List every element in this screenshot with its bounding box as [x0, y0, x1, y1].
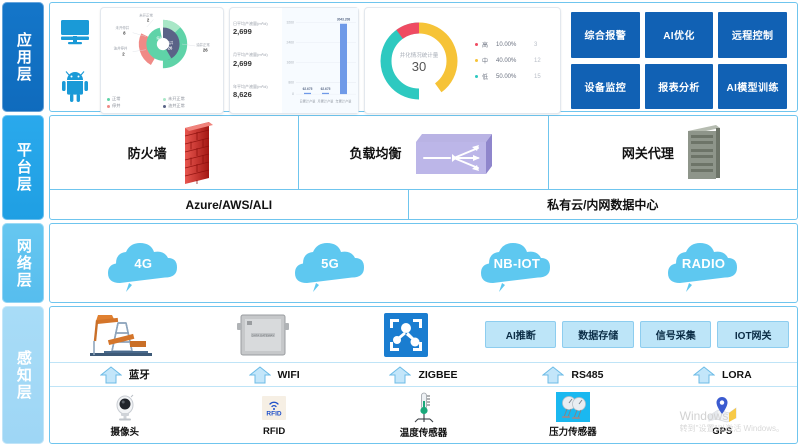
donut-chart-risk-level: 井化情况统计量 30 [373, 15, 465, 107]
perception-layer: 感知层 [2, 306, 798, 444]
load-balancer-icon [410, 128, 498, 178]
application-layer-body: 未开正常 2 未开停井 8 油井停井 2 油井正常 26 停井 10 油井 [49, 2, 798, 112]
dashboard-preview: 未开正常 2 未开停井 8 油井停井 2 油井正常 26 停井 10 油井 [100, 7, 561, 114]
svg-text:1600: 1600 [286, 61, 294, 65]
svg-text:0: 0 [292, 92, 294, 96]
pie-legend: 正常 未开正常 停井 油井正常 [107, 96, 217, 109]
svg-text:2: 2 [122, 51, 125, 56]
legend-item: 高10.00%3 [475, 40, 541, 49]
button-ai-model-training[interactable]: AI模型训练 [718, 64, 787, 110]
button-device-monitoring[interactable]: 设备监控 [571, 64, 640, 110]
protocol-lora: LORA [648, 366, 797, 384]
network-cloud-4g[interactable]: 4G [96, 237, 191, 289]
sensor-label: 压力传感器 [549, 424, 597, 438]
sensor-temperature[interactable]: 温度传感器 [349, 391, 498, 439]
legend-item: 中40.00%12 [475, 56, 541, 65]
svg-text:62.675: 62.675 [321, 87, 331, 91]
svg-text:月累计产量: 月累计产量 [318, 98, 335, 103]
box-ai-inference[interactable]: AI推断 [485, 321, 557, 348]
up-arrow-icon [693, 366, 715, 384]
button-report-analysis[interactable]: 报表分析 [645, 64, 714, 110]
sensor-pressure[interactable]: 压力传感器 [498, 392, 647, 438]
gateway-box-icon: DATA GATEWAY [235, 313, 291, 357]
legend-item: 低50.00%15 [475, 72, 541, 81]
stat-item: 年平均产液量(m³/d) 8,626 [233, 85, 279, 99]
architecture-diagram: 应用层 [0, 0, 800, 444]
stat-item: 日平均产液量(m³/d) 2,699 [233, 22, 279, 36]
monitor-icon [60, 19, 90, 45]
svg-text:2400: 2400 [286, 41, 294, 45]
sensor-rfid[interactable]: RFID RFID [199, 394, 348, 437]
platform-layer-body: 防火墙 [49, 115, 798, 220]
rfid-icon: RFID [259, 394, 289, 424]
svg-text:10: 10 [158, 42, 164, 48]
protocol-label: ZIGBEE [418, 369, 457, 381]
pie-callout-3: 油井正常 [196, 42, 210, 47]
up-arrow-icon [542, 366, 564, 384]
legend-item: 未开正常 [163, 96, 217, 102]
svg-text:油井: 油井 [167, 40, 174, 45]
chart-card-production[interactable]: 日平均产液量(m³/d) 2,699 月平均产液量(m³/d) 2,699 年平… [229, 7, 359, 114]
svg-text:2: 2 [147, 17, 150, 22]
sensor-row: 摄像头 RFID RFID [50, 387, 797, 443]
protocol-zigbee: ZIGBEE [349, 366, 498, 384]
network-layer-body: 4G 5G NB-IOT RADIO [49, 223, 798, 303]
camera-icon [110, 392, 140, 422]
network-layer: 网络层 4G 5G NB-IOT RADIO [2, 223, 798, 303]
svg-text:年累计产量: 年累计产量 [336, 98, 353, 103]
platform-layer: 平台层 防火墙 [2, 115, 798, 220]
stat-item: 月平均产液量(m³/d) 2,699 [233, 53, 279, 67]
perception-layer-body: DATA GATEWAY [49, 306, 798, 444]
box-data-storage[interactable]: 数据存储 [562, 321, 634, 348]
layer-tab-application: 应用层 [2, 2, 44, 112]
sensor-gps[interactable]: GPS [648, 394, 797, 437]
sensor-label: RFID [263, 426, 285, 437]
layer-tab-platform: 平台层 [2, 115, 44, 220]
application-platform-icons [54, 7, 96, 114]
deployment-private-cloud: 私有云/内网数据中心 [409, 190, 797, 219]
field-device-gateway[interactable]: DATA GATEWAY [192, 313, 334, 357]
oil-pumpjack-icon [82, 311, 160, 359]
svg-text:26: 26 [203, 48, 208, 53]
protocol-label: LORA [722, 369, 752, 381]
chart-card-risk-level[interactable]: 井化情况统计量 30 高10.00%3 中40.00%12 低50.00%15 [364, 7, 561, 114]
svg-text:8: 8 [123, 31, 126, 36]
edge-function-boxes: AI推断 数据存储 信号采集 IOT网关 [477, 321, 797, 348]
sensor-label: 摄像头 [110, 424, 139, 438]
donut-chart-well-status: 未开正常 2 未开停井 8 油井停井 2 油井正常 26 停井 10 油井 [101, 8, 225, 82]
protocol-arrow-row: 蓝牙 WIFI ZIGBEE [50, 363, 797, 387]
up-arrow-icon [100, 366, 122, 384]
legend-item: 正常 [107, 96, 161, 102]
svg-text:日累计产量: 日累计产量 [300, 98, 317, 103]
network-cloud-5g[interactable]: 5G [283, 237, 378, 289]
svg-text:62.675: 62.675 [303, 87, 313, 91]
svg-text:26: 26 [168, 46, 173, 51]
load-balancer-label: 负载均衡 [349, 143, 401, 162]
network-cloud-radio[interactable]: RADIO [656, 237, 751, 289]
box-iot-gateway[interactable]: IOT网关 [717, 321, 789, 348]
platform-deployment-bar: Azure/AWS/ALI 私有云/内网数据中心 [50, 189, 797, 219]
gateway-proxy-label: 网关代理 [622, 143, 674, 162]
sensor-camera[interactable]: 摄像头 [50, 392, 199, 438]
ring-center-value: 30 [412, 59, 426, 74]
production-stats: 日平均产液量(m³/d) 2,699 月平均产液量(m³/d) 2,699 年平… [230, 8, 282, 113]
thermometer-icon [409, 391, 439, 423]
platform-item-firewall[interactable]: 防火墙 [50, 116, 298, 189]
svg-text:3200: 3200 [286, 21, 294, 25]
pie-inner-label: 停井 [156, 35, 163, 40]
android-icon [61, 70, 89, 102]
legend-item: 油井正常 [163, 103, 217, 109]
firewall-brick-icon [175, 122, 221, 184]
application-layer: 应用层 [2, 2, 798, 112]
protocol-label: RS485 [571, 369, 603, 381]
field-device-pumpjack[interactable] [50, 311, 192, 359]
button-ai-optimization[interactable]: AI优化 [645, 12, 714, 58]
chart-card-well-status[interactable]: 未开正常 2 未开停井 8 油井停井 2 油井正常 26 停井 10 油井 [100, 7, 224, 114]
sensor-label: GPS [712, 426, 732, 437]
protocol-wifi: WIFI [199, 366, 348, 384]
protocol-bluetooth: 蓝牙 [50, 366, 199, 384]
ring-legend: 高10.00%3 中40.00%12 低50.00%15 [475, 40, 541, 81]
platform-item-gateway-proxy[interactable]: 网关代理 [548, 116, 797, 189]
up-arrow-icon [389, 366, 411, 384]
pie-callout-2: 油井停井 [114, 46, 128, 51]
application-function-buttons: 综合报警 AI优化 远程控制 设备监控 报表分析 AI模型训练 [565, 7, 793, 114]
firewall-label: 防火墙 [128, 143, 167, 162]
gps-pin-icon [705, 394, 739, 424]
bar-chart-production: 32002400 16008000 62.67562.6753043.208 [282, 8, 358, 113]
ring-center-title: 井化情况统计量 [400, 51, 439, 59]
field-device-zigbee[interactable] [335, 313, 477, 357]
sensor-label: 温度传感器 [400, 425, 448, 439]
protocol-rs485: RS485 [498, 366, 647, 384]
pressure-gauge-icon [556, 392, 590, 422]
protocol-label: WIFI [278, 369, 300, 381]
box-signal-acquisition[interactable]: 信号采集 [640, 321, 712, 348]
network-cloud-nbiot[interactable]: NB-IOT [469, 237, 564, 289]
svg-text:RFID: RFID [267, 410, 282, 417]
legend-item: 停井 [107, 103, 161, 109]
svg-text:3043.208: 3043.208 [337, 18, 350, 22]
pie-callout-1: 未开停井 [116, 25, 130, 30]
svg-text:DATA GATEWAY: DATA GATEWAY [252, 333, 275, 337]
zigbee-icon [384, 313, 428, 357]
deployment-public-cloud: Azure/AWS/ALI [50, 190, 409, 219]
button-comprehensive-alarm[interactable]: 综合报警 [571, 12, 640, 58]
server-rack-icon [682, 123, 724, 183]
layer-tab-network: 网络层 [2, 223, 44, 303]
up-arrow-icon [249, 366, 271, 384]
platform-item-load-balancer[interactable]: 负载均衡 [298, 116, 547, 189]
button-remote-control[interactable]: 远程控制 [718, 12, 787, 58]
svg-text:800: 800 [288, 81, 294, 85]
protocol-label: 蓝牙 [129, 367, 150, 382]
layer-tab-perception: 感知层 [2, 306, 44, 444]
